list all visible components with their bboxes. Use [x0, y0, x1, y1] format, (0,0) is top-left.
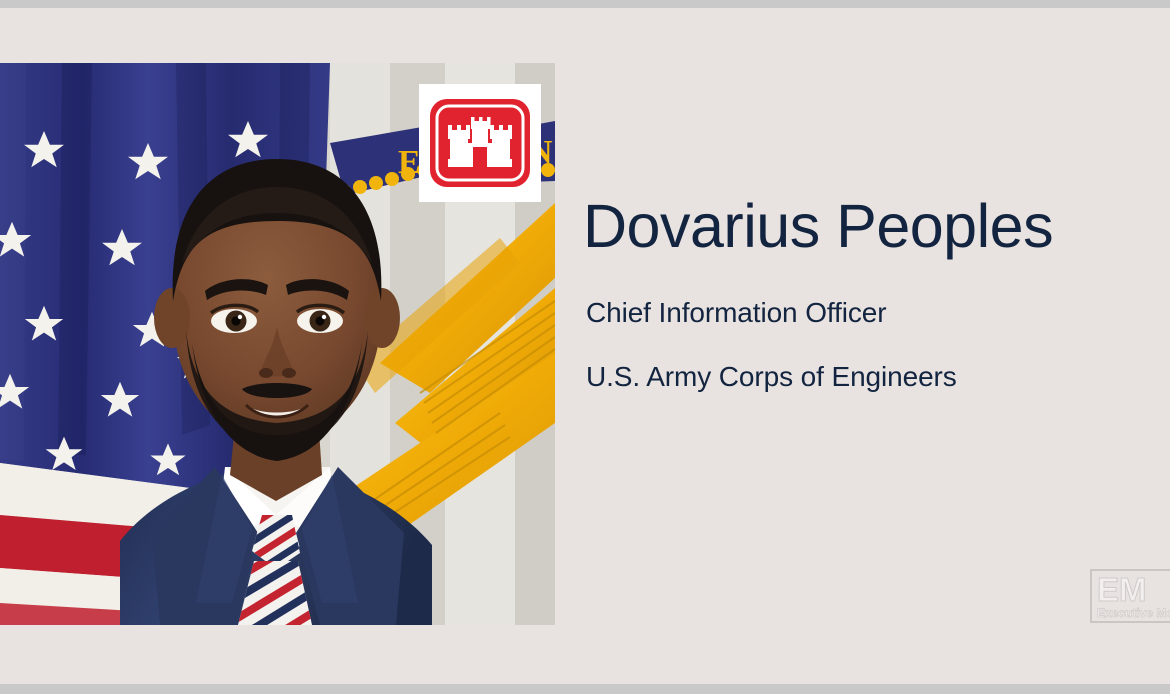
watermark-letters: EM — [1097, 573, 1147, 607]
watermark-frame: EM Executive Mo — [1090, 569, 1170, 623]
person-organization: U.S. Army Corps of Engineers — [586, 361, 957, 393]
svg-text:E: E — [398, 144, 421, 181]
usace-logo-badge — [419, 84, 541, 202]
executive-mosaic-watermark: EM Executive Mo — [1090, 569, 1170, 623]
usace-castle-icon — [428, 97, 532, 189]
watermark-subtitle: Executive Mo — [1097, 607, 1170, 620]
person-info-block: Dovarius Peoples Chief Information Offic… — [583, 196, 1143, 257]
page-title: Dovarius Peoples — [583, 196, 1143, 257]
person-role: Chief Information Officer — [586, 297, 886, 329]
bottom-edge-strip — [0, 684, 1170, 694]
slide-canvas: E N I N — [0, 0, 1170, 694]
top-edge-strip — [0, 0, 1170, 8]
